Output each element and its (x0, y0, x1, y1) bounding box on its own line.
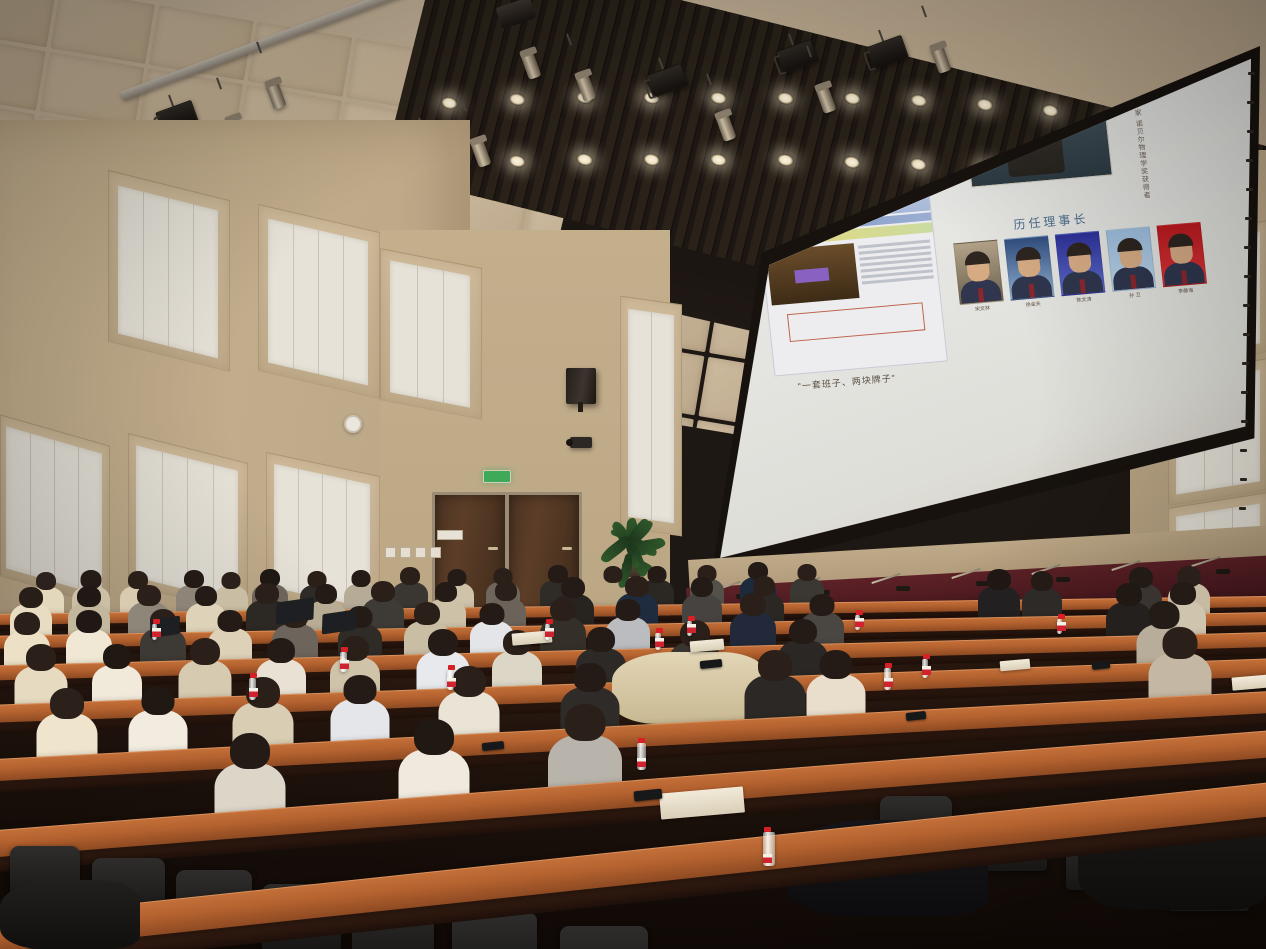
bottle-label (545, 628, 554, 637)
audience-member (128, 686, 187, 756)
audience-member (548, 704, 622, 791)
person-head (740, 593, 766, 616)
screen-tension-hook (1246, 159, 1253, 162)
bottle-cap (1058, 614, 1065, 619)
water-bottle[interactable] (655, 633, 661, 650)
person-head (141, 686, 174, 715)
water-bottle[interactable] (637, 743, 646, 770)
bottle-label (922, 666, 931, 675)
bottle-label (340, 660, 349, 669)
audience-member (398, 719, 469, 803)
water-bottle[interactable] (249, 678, 256, 700)
person-head (452, 666, 486, 697)
person-head (550, 598, 576, 621)
audience-member (214, 733, 285, 817)
lecture-hall-scene: 中国博士后科学基金会 中国博士后科学基金会理事会 一、博士后基金简介 （一）设立… (0, 0, 1266, 949)
person-head (76, 610, 102, 633)
bottle-label (637, 758, 646, 767)
person-head (77, 586, 101, 607)
acoustic-fabric-2 (268, 218, 368, 385)
person-head (19, 587, 43, 608)
person-head (230, 733, 270, 769)
screen-tension-hook (1240, 449, 1247, 452)
audience-chair[interactable] (560, 926, 648, 949)
water-bottle[interactable] (855, 615, 860, 630)
bottle-label (884, 678, 893, 687)
person-head (195, 586, 217, 606)
audience-member (744, 650, 805, 723)
bottle-cap (688, 616, 695, 621)
gooseneck-microphone-icon (872, 582, 910, 591)
bottle-label (655, 638, 664, 647)
person-head (1162, 627, 1197, 659)
bottle-label (249, 688, 258, 697)
wall-speaker-icon (566, 368, 596, 404)
screen-tension-hook (1246, 188, 1253, 191)
bottle-cap (448, 665, 455, 670)
bottle-cap (856, 610, 863, 615)
person-head (987, 569, 1011, 590)
bottle-label (855, 618, 864, 627)
screen-tension-hook (1244, 246, 1251, 249)
bottle-cap (923, 654, 930, 659)
water-bottle[interactable] (1057, 619, 1062, 634)
water-bottle[interactable] (152, 624, 157, 640)
lecture-camera-icon (570, 437, 592, 448)
bottle-cap (885, 663, 892, 668)
water-bottle[interactable] (447, 670, 454, 690)
water-bottle[interactable] (545, 624, 550, 640)
person-head (435, 582, 457, 602)
wall-outlets[interactable] (385, 547, 441, 558)
person-head (691, 577, 713, 597)
screen-tension-hook (1247, 130, 1254, 133)
acoustic-fabric-10 (628, 309, 674, 523)
notebook[interactable] (1232, 674, 1266, 690)
acoustic-fabric-1 (118, 186, 218, 359)
person-head (50, 688, 84, 719)
person-head (414, 602, 440, 625)
audience-member (330, 675, 389, 745)
person-head (1031, 571, 1053, 591)
person-head (267, 638, 295, 663)
bottle-label (1057, 622, 1066, 631)
person-head (625, 576, 649, 597)
bottle-cap (341, 647, 348, 652)
screen-tension-hook (1247, 101, 1254, 104)
person-head (480, 603, 505, 625)
person-head (758, 650, 792, 681)
person-head (428, 629, 458, 656)
door-placard (437, 530, 463, 540)
bottle-cap (638, 738, 645, 743)
screen-tension-hook (1243, 304, 1250, 307)
exit-sign-icon (483, 470, 511, 483)
screen-tension-hook (1245, 217, 1252, 220)
bottle-label (152, 628, 161, 637)
person-head (1148, 601, 1179, 629)
person-head (414, 719, 454, 755)
audience-member (1148, 627, 1211, 702)
bottle-label (687, 624, 696, 633)
screen-tension-hooks (700, 46, 1260, 576)
audience-member (36, 688, 97, 761)
person-head (26, 644, 56, 671)
person-head (561, 577, 585, 598)
person-head (137, 585, 161, 606)
audience-member (806, 650, 865, 720)
person-head (103, 644, 131, 669)
person-head (190, 638, 220, 665)
screen-tension-hook (1240, 478, 1247, 481)
folded-coat (612, 652, 766, 724)
person-head (14, 612, 40, 635)
screen-tension-hook (1239, 507, 1246, 510)
bottle-cap (546, 619, 553, 624)
person-head (495, 581, 517, 601)
water-bottle[interactable] (763, 832, 775, 866)
audience-member (978, 569, 1020, 621)
person-head (218, 610, 243, 632)
person-head (616, 599, 641, 621)
tote-bag (0, 880, 140, 949)
person-head (798, 564, 817, 581)
acoustic-fabric-3 (390, 260, 470, 408)
screen-tension-hook (1244, 275, 1251, 278)
person-head (565, 704, 606, 741)
bottle-cap (656, 628, 663, 633)
person-head (587, 627, 615, 652)
person-head (819, 650, 852, 679)
bottle-label (447, 678, 456, 687)
person-head (810, 594, 835, 616)
water-bottle[interactable] (884, 668, 891, 690)
screen-tension-hook (1243, 333, 1250, 336)
bottle-cap (153, 619, 160, 624)
bottle-cap (250, 673, 257, 678)
person-head (789, 619, 817, 644)
water-bottle[interactable] (687, 621, 692, 636)
person-head (573, 663, 606, 692)
screen-tension-hook (1248, 72, 1255, 75)
person-head (255, 583, 279, 604)
bottle-cap (764, 827, 771, 832)
person-head (343, 675, 376, 704)
water-bottle[interactable] (340, 652, 347, 672)
person-head (371, 581, 395, 602)
bottle-label (763, 854, 772, 863)
audience-member (1022, 571, 1062, 621)
wall-clock (344, 415, 362, 433)
screen-tension-hook (1241, 420, 1248, 423)
speaker-mount (578, 402, 583, 412)
screen-tension-hook (1242, 362, 1249, 365)
water-bottle[interactable] (922, 659, 928, 678)
audience-member (730, 593, 776, 650)
person-head (315, 584, 337, 604)
screen-tension-hook (1241, 391, 1248, 394)
potted-plant (600, 505, 664, 575)
